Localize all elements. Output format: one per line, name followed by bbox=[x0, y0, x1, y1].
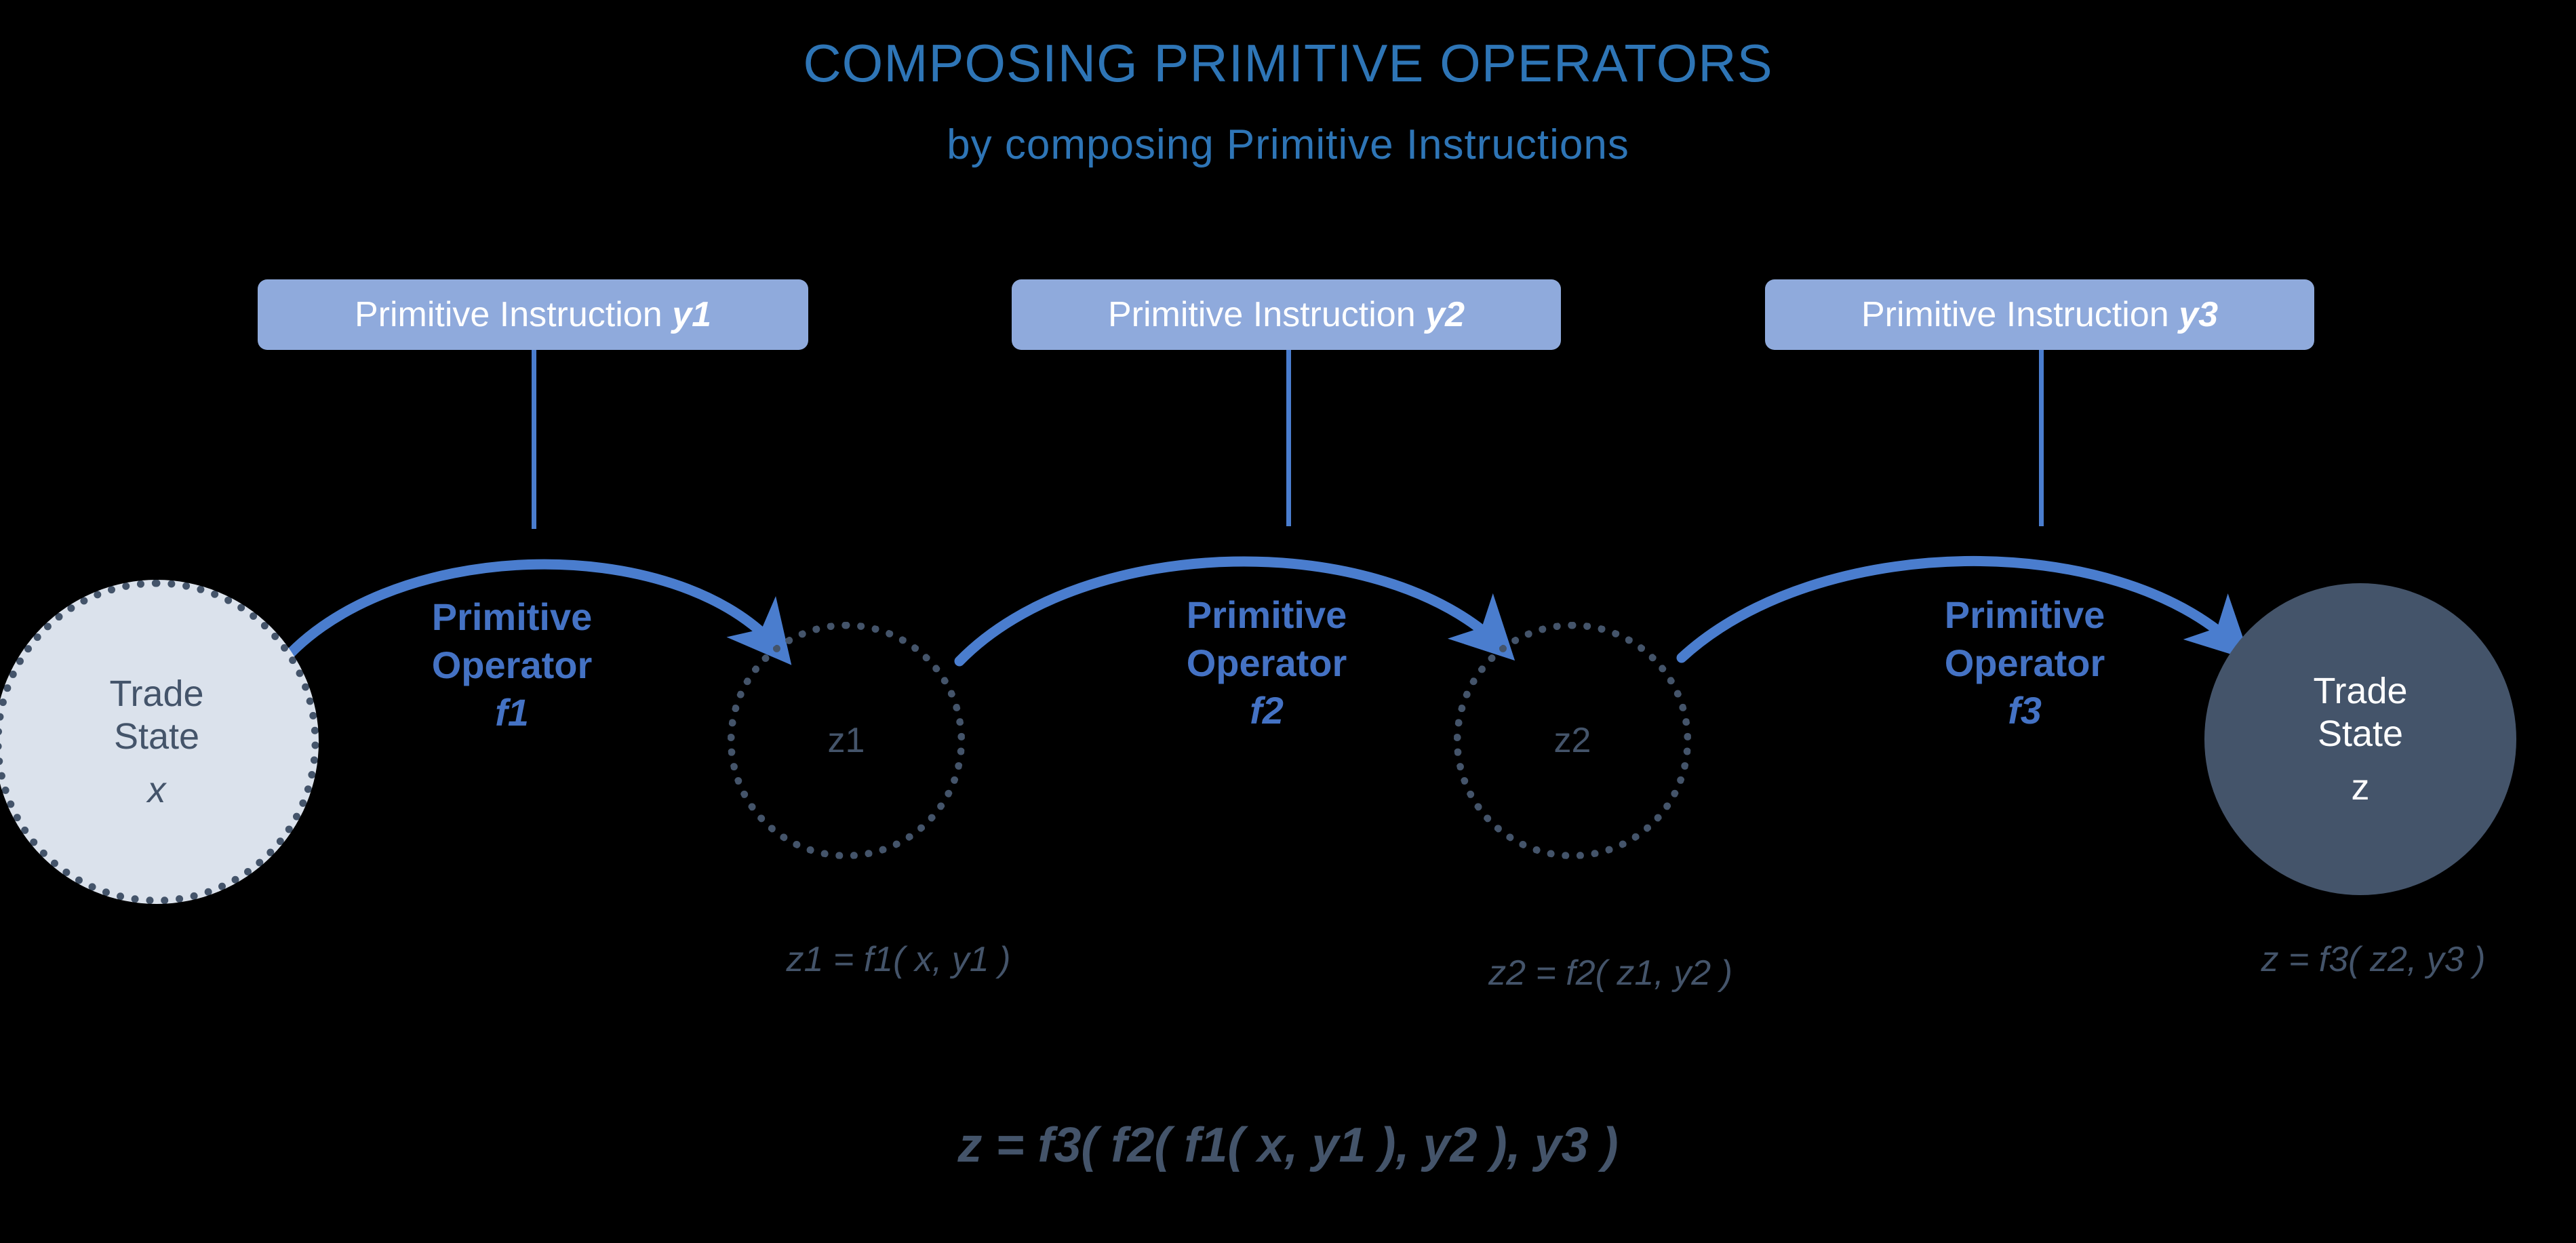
node-label: z1 bbox=[828, 720, 865, 762]
operator-line2: Operator bbox=[356, 642, 668, 690]
node-variable: z bbox=[2352, 766, 2370, 808]
node-z1[interactable]: z1 bbox=[728, 622, 965, 859]
operator-line2: Operator bbox=[1869, 639, 2181, 688]
instruction-var: y1 bbox=[662, 294, 711, 335]
operator-line1: Primitive bbox=[1869, 591, 2181, 639]
formula-composed: z = f3( f2( f1( x, y1 ), y2 ), y3 ) bbox=[0, 1118, 2576, 1173]
formula-z1: z1 = f1( x, y1 ) bbox=[685, 939, 1112, 980]
operator-line1: Primitive bbox=[356, 593, 668, 642]
node-z2[interactable]: z2 bbox=[1454, 622, 1691, 859]
node-trade-state-x[interactable]: Trade State x bbox=[0, 580, 319, 904]
instruction-box-y2[interactable]: Primitive Instruction y2 bbox=[1012, 279, 1561, 350]
instruction-var: y3 bbox=[2169, 294, 2218, 335]
formula-z: z = f3( z2, y3 ) bbox=[2160, 939, 2576, 980]
stem-y1 bbox=[532, 350, 536, 529]
operator-label-f2: Primitive Operator f2 bbox=[1111, 591, 1423, 735]
node-line2: State bbox=[2318, 713, 2403, 755]
stem-y2 bbox=[1286, 350, 1291, 526]
node-line2: State bbox=[114, 715, 199, 758]
formula-z2: z2 = f2( z1, y2 ) bbox=[1397, 953, 1824, 993]
operator-label-f1: Primitive Operator f1 bbox=[356, 593, 668, 737]
operator-fn: f1 bbox=[356, 689, 668, 737]
instruction-var: y2 bbox=[1416, 294, 1465, 335]
node-line1: Trade bbox=[2313, 670, 2407, 713]
node-label: z2 bbox=[1554, 720, 1591, 762]
operator-line2: Operator bbox=[1111, 639, 1423, 688]
instruction-box-y1[interactable]: Primitive Instruction y1 bbox=[258, 279, 808, 350]
instruction-label: Primitive Instruction bbox=[355, 294, 662, 335]
stem-y3 bbox=[2039, 350, 2044, 526]
operator-line1: Primitive bbox=[1111, 591, 1423, 639]
node-trade-state-z[interactable]: Trade State z bbox=[2204, 583, 2516, 895]
diagram-canvas: COMPOSING PRIMITIVE OPERATORS by composi… bbox=[0, 0, 2576, 1243]
node-line1: Trade bbox=[109, 673, 203, 715]
instruction-label: Primitive Instruction bbox=[1108, 294, 1416, 335]
node-variable: x bbox=[148, 769, 166, 811]
instruction-box-y3[interactable]: Primitive Instruction y3 bbox=[1765, 279, 2314, 350]
operator-fn: f2 bbox=[1111, 687, 1423, 735]
instruction-label: Primitive Instruction bbox=[1861, 294, 2169, 335]
operator-fn: f3 bbox=[1869, 687, 2181, 735]
operator-label-f3: Primitive Operator f3 bbox=[1869, 591, 2181, 735]
